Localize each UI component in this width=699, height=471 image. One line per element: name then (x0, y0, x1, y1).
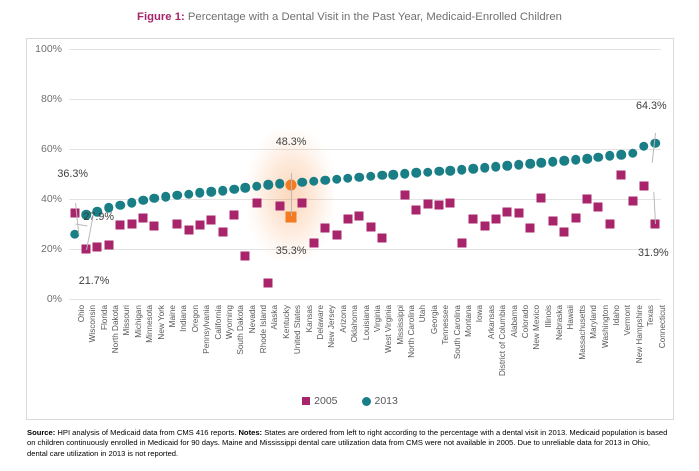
legend-label: 2005 (314, 395, 337, 407)
data-label-connecticut-2005: 31.9% (638, 247, 669, 259)
gridline (69, 299, 661, 300)
data-point-2013 (639, 142, 649, 152)
x-axis-label: New York (158, 305, 166, 340)
x-axis-label: Nevada (249, 305, 257, 333)
x-axis-label: Maryland (590, 305, 598, 339)
data-point-2005 (127, 219, 136, 228)
data-point-2013 (537, 158, 547, 168)
data-point-2005 (309, 238, 318, 247)
footnote: Source: HPI analysis of Medicaid data fr… (27, 428, 672, 459)
data-point-2013 (434, 167, 444, 177)
data-point-2005 (423, 200, 432, 209)
data-label-ohio-2005: 36.3% (57, 168, 88, 180)
data-point-2013 (366, 172, 376, 182)
data-point-2005 (343, 214, 352, 223)
data-point-2013 (616, 150, 626, 160)
data-point-2013 (389, 170, 399, 180)
data-point-2005 (639, 181, 648, 190)
data-point-2013 (605, 151, 615, 161)
chart-title-bar: Figure 1: Percentage with a Dental Visit… (0, 0, 699, 30)
x-axis-label: Oklahoma (351, 305, 359, 342)
data-label-wisconsin-2005: 21.7% (79, 275, 110, 287)
x-axis-label: Mississippi (397, 305, 405, 345)
data-point-2013 (150, 194, 160, 204)
data-point-2013 (446, 166, 456, 176)
data-point-2005 (526, 223, 535, 232)
x-axis-label: Wisconsin (89, 305, 97, 342)
x-axis-label: New Jersey (328, 305, 336, 348)
data-point-2005 (150, 221, 159, 230)
x-axis-label: Idaho (613, 305, 621, 326)
x-axis-label: Minnesota (146, 305, 154, 343)
x-axis-label: South Dakota (237, 305, 245, 355)
data-point-2005 (195, 220, 204, 229)
y-axis-tick-label: 80% (41, 93, 62, 105)
data-point-2005 (537, 194, 546, 203)
data-point-2005 (275, 202, 284, 211)
data-label-ohio-2013: 27.9% (83, 211, 114, 223)
x-axis-label: Indiana (180, 305, 188, 332)
x-axis-label: Iowa (476, 305, 484, 322)
data-point-2005 (435, 201, 444, 210)
data-label-united-states-2013: 48.3% (276, 136, 307, 148)
legend-item-2005[interactable]: 2005 (302, 395, 337, 407)
data-point-2005 (628, 197, 637, 206)
data-point-2013 (514, 160, 524, 170)
data-point-2005 (366, 222, 375, 231)
data-point-2013 (275, 179, 285, 189)
x-axis-label: Alaska (271, 305, 279, 330)
x-axis-label: Maine (169, 305, 177, 327)
data-point-2013 (241, 183, 251, 193)
data-point-2005 (491, 215, 500, 224)
data-point-2005 (469, 215, 478, 224)
legend-label: 2013 (375, 395, 398, 407)
gridline (69, 49, 661, 50)
data-point-2013 (628, 148, 638, 158)
data-point-2013 (263, 180, 273, 190)
data-point-2005 (355, 211, 364, 220)
data-point-2013 (127, 198, 137, 208)
x-axis-label: Arizona (340, 305, 348, 333)
x-axis-label: Vermont (624, 305, 632, 336)
x-axis-label: New Mexico (533, 305, 541, 350)
x-axis-label: Nebraska (556, 305, 564, 340)
x-axis-label: North Carolina (408, 305, 416, 358)
data-point-2005 (321, 223, 330, 232)
data-point-2005 (241, 252, 250, 261)
x-axis-label: Oregon (192, 305, 200, 332)
x-axis-label: Louisiana (363, 305, 371, 340)
data-point-2013 (457, 165, 467, 175)
data-point-2005 (617, 170, 626, 179)
y-axis-tick-label: 100% (35, 43, 62, 55)
data-point-2013 (525, 159, 535, 169)
data-point-2005 (70, 208, 79, 217)
x-axis-label: South Carolina (454, 305, 462, 359)
data-point-2013 (491, 162, 501, 172)
notes-label: Notes: (238, 428, 262, 437)
annotation-leader-line (291, 177, 292, 216)
data-point-2013 (332, 175, 342, 185)
data-point-2013 (229, 185, 239, 195)
data-point-2005 (594, 203, 603, 212)
legend-square-icon (302, 397, 310, 405)
gridline (69, 99, 661, 100)
x-axis-label: United States (294, 305, 302, 354)
data-point-2013 (298, 178, 308, 188)
plot-area: 0%20%40%60%80%100% OhioWisconsinFloridaN… (69, 49, 661, 299)
data-point-2005 (173, 219, 182, 228)
data-point-2005 (104, 241, 113, 250)
data-point-2013 (309, 177, 319, 187)
data-point-2013 (400, 169, 410, 179)
data-point-2005 (116, 220, 125, 229)
x-axis-label: Colorado (522, 305, 530, 338)
data-point-2005 (332, 230, 341, 239)
data-point-2013 (138, 195, 148, 205)
y-axis-tick-label: 0% (47, 293, 62, 305)
data-point-2005 (378, 234, 387, 243)
data-point-2005 (412, 206, 421, 215)
data-point-2005 (264, 278, 273, 287)
data-point-2013 (172, 190, 182, 200)
legend-circle-icon (362, 397, 371, 406)
data-point-2013 (161, 192, 171, 202)
x-axis-label: West Virginia (385, 305, 393, 353)
data-point-2013 (320, 176, 330, 186)
x-axis-label: Massachusetts (579, 305, 587, 360)
data-point-2013 (582, 154, 592, 164)
x-axis-label: North Dakota (112, 305, 120, 353)
x-axis-label: California (215, 305, 223, 340)
chart-container: 0%20%40%60%80%100% OhioWisconsinFloridaN… (26, 38, 674, 420)
chart-legend: 20052013 (27, 395, 673, 407)
data-point-2013 (355, 173, 365, 183)
data-point-2005 (218, 228, 227, 237)
x-axis-label: Texas (647, 305, 655, 326)
data-point-2013 (548, 157, 558, 167)
y-axis-tick-label: 60% (41, 143, 62, 155)
data-point-2013 (571, 155, 581, 165)
data-point-2013 (218, 186, 228, 196)
data-point-2005 (480, 222, 489, 231)
x-axis-label: Kansas (306, 305, 314, 332)
source-label: Source: (27, 428, 55, 437)
data-point-2005 (560, 227, 569, 236)
y-axis-tick-label: 20% (41, 243, 62, 255)
legend-item-2013[interactable]: 2013 (362, 395, 398, 407)
x-axis-label: Georgia (431, 305, 439, 334)
source-text: HPI analysis of Medicaid data from CMS 4… (55, 428, 238, 437)
data-point-2005 (139, 213, 148, 222)
data-point-2005 (457, 238, 466, 247)
x-axis-label: Illinois (545, 305, 553, 328)
data-point-2005 (230, 210, 239, 219)
x-axis-label: Hawaii (567, 305, 575, 330)
x-axis-label: Delaware (317, 305, 325, 340)
data-label-united-states-2005: 35.3% (276, 245, 307, 257)
x-axis-label: Connecticut (659, 305, 667, 348)
data-point-2005 (548, 217, 557, 226)
data-point-2013 (207, 187, 217, 197)
x-axis-label: Alabama (511, 305, 519, 337)
data-point-2005 (446, 199, 455, 208)
data-point-2005 (298, 198, 307, 207)
x-axis-label: Missouri (123, 305, 131, 335)
data-point-2005 (400, 190, 409, 199)
data-point-2013 (343, 174, 353, 184)
x-axis-label: Michigan (135, 305, 143, 338)
data-label-connecticut-2013: 64.3% (636, 100, 667, 112)
data-point-2013 (480, 163, 490, 173)
y-axis-tick-label: 40% (41, 193, 62, 205)
x-axis-label: New Hampshire (636, 305, 644, 363)
x-axis-label: Arkansas (488, 305, 496, 339)
data-point-2005 (605, 220, 614, 229)
data-point-2013 (423, 167, 433, 177)
data-point-2013 (115, 200, 125, 210)
data-point-2005 (514, 209, 523, 218)
x-axis-label: Florida (101, 305, 109, 330)
x-axis-label: Pennsylvania (203, 305, 211, 354)
x-axis-label: Montana (465, 305, 473, 337)
data-point-2013 (411, 168, 421, 178)
x-axis-label: Wyoming (226, 305, 234, 339)
x-axis-label: Kentucky (283, 305, 291, 339)
data-point-2005 (93, 243, 102, 252)
x-axis-label: District of Columbia (499, 305, 507, 376)
gridline (69, 149, 661, 150)
data-point-2013 (252, 181, 262, 191)
data-point-2005 (184, 225, 193, 234)
data-point-2013 (503, 161, 513, 171)
data-point-2013 (184, 189, 194, 199)
gridline (69, 249, 661, 250)
data-point-2013 (468, 164, 478, 174)
data-point-2005 (503, 208, 512, 217)
figure-title-text: Percentage with a Dental Visit in the Pa… (185, 11, 562, 23)
data-point-2005 (207, 215, 216, 224)
data-point-2013 (559, 156, 569, 166)
x-axis-label: Virginia (374, 305, 382, 332)
data-point-2013 (594, 153, 604, 163)
x-axis-label: Ohio (78, 305, 86, 322)
data-point-2013 (651, 138, 661, 148)
data-point-2013 (377, 171, 387, 181)
x-axis-label: Tennessee (442, 305, 450, 345)
x-axis-label: Rhode Island (260, 305, 268, 353)
x-axis-label: Utah (419, 305, 427, 322)
data-point-2005 (583, 194, 592, 203)
data-point-2005 (252, 198, 261, 207)
x-axis-label: Washington (602, 305, 610, 348)
data-point-2005 (571, 213, 580, 222)
data-point-2013 (195, 188, 205, 198)
figure-number: Figure 1: (137, 11, 185, 23)
page-title: Figure 1: Percentage with a Dental Visit… (137, 11, 562, 23)
